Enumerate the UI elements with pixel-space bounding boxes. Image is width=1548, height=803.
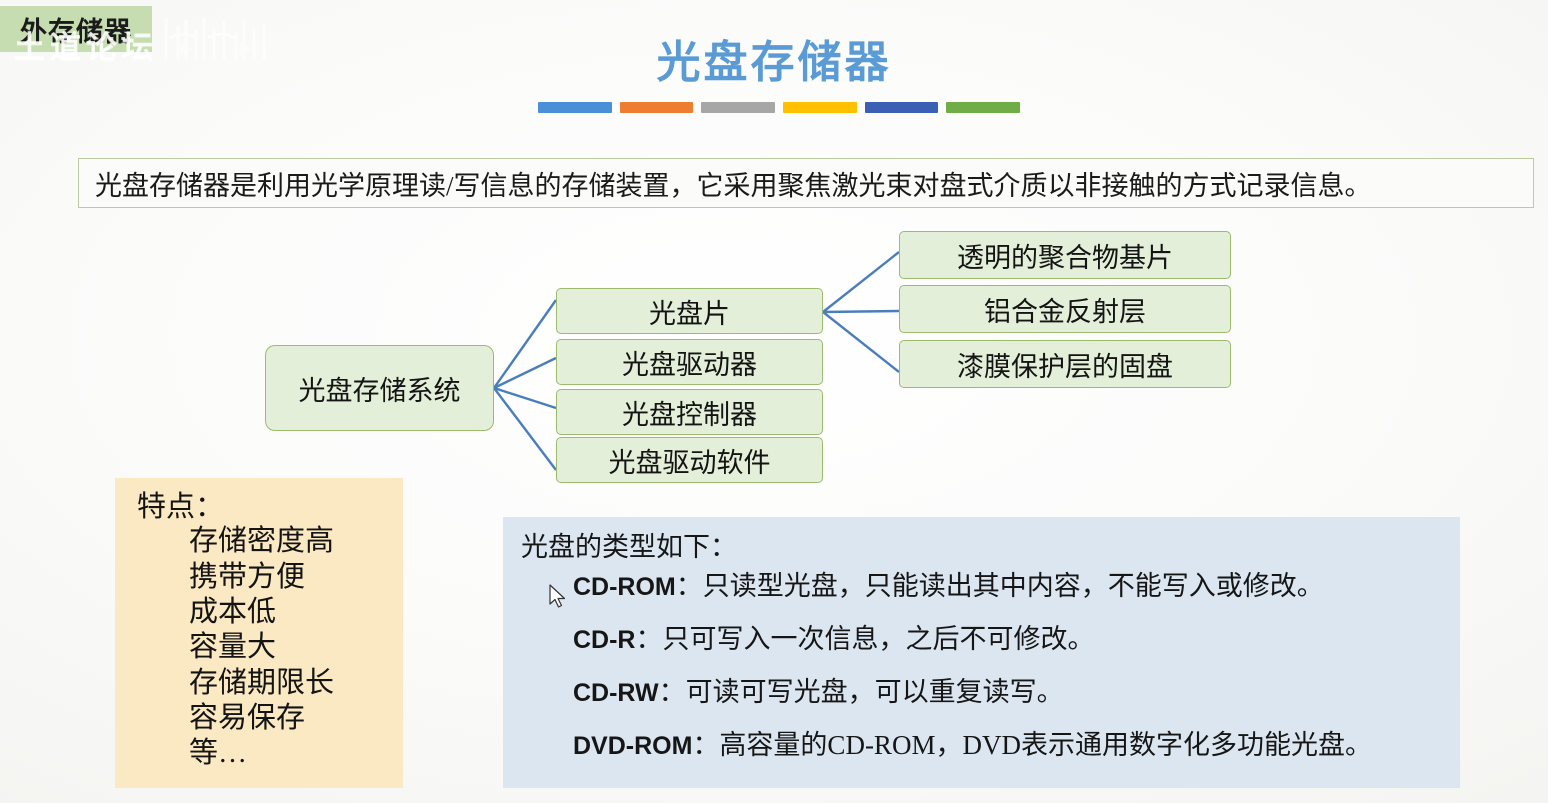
feature-item: 存储期限长 (189, 666, 403, 701)
disc-type-item: CD-R：只可写入一次信息，之后不可修改。 (573, 626, 1460, 653)
disc-type-item: DVD-ROM：高容量的CD-ROM，DVD表示通用数字化多功能光盘。 (573, 732, 1460, 759)
accent-bar-1 (538, 102, 612, 113)
feature-item: 容易保存 (189, 701, 403, 736)
definition-text: 光盘存储器是利用光学原理读/写信息的存储装置，它采用聚焦激光束对盘式介质以非接触… (95, 164, 1372, 203)
feature-item: 存储密度高 (189, 524, 403, 559)
accent-bar-2 (620, 102, 694, 113)
diagram-node-branch-4: 光盘驱动软件 (556, 437, 823, 483)
disc-type-desc: ：可读可写光盘，可以重复读写。 (659, 677, 1064, 707)
connector-branch1-to-leaf-3 (823, 312, 899, 372)
title-accent-bars (538, 102, 1020, 113)
disc-type-item: CD-RW：可读可写光盘，可以重复读写。 (573, 679, 1460, 706)
diagram-node-branch-1: 光盘片 (556, 288, 823, 334)
features-title: 特点： (137, 490, 403, 524)
diagram-node-root: 光盘存储系统 (265, 345, 494, 431)
accent-bar-5 (865, 102, 939, 113)
feature-item: 容量大 (189, 630, 403, 665)
disc-types-panel: 光盘的类型如下： CD-ROM：只读型光盘，只能读出其中内容，不能写入或修改。 … (503, 517, 1460, 788)
page-title: 光盘存储器 (0, 26, 1548, 90)
disc-type-code: CD-RW (573, 679, 659, 707)
connector-root-to-branch-4 (494, 388, 556, 470)
connector-root-to-branch-2 (494, 358, 556, 388)
disc-type-code: CD-ROM (573, 573, 676, 601)
accent-bar-4 (783, 102, 857, 113)
connector-branch1-to-leaf-2 (823, 311, 899, 312)
diagram-node-branch-2: 光盘驱动器 (556, 339, 823, 385)
disc-type-item: CD-ROM：只读型光盘，只能读出其中内容，不能写入或修改。 (573, 573, 1460, 600)
disc-types-title: 光盘的类型如下： (521, 531, 1460, 563)
accent-bar-3 (701, 102, 775, 113)
diagram-node-leaf-3: 漆膜保护层的固盘 (899, 340, 1231, 388)
slide-canvas: 外存储器 土道论坛 光盘存储器 (0, 0, 1548, 803)
disc-types-list: CD-ROM：只读型光盘，只能读出其中内容，不能写入或修改。 CD-R：只可写入… (521, 573, 1460, 759)
definition-banner: 光盘存储器是利用光学原理读/写信息的存储装置，它采用聚焦激光束对盘式介质以非接触… (78, 158, 1534, 208)
connector-branch1-to-leaf-1 (823, 252, 899, 312)
feature-item: 成本低 (189, 595, 403, 630)
connector-root-to-branch-3 (494, 388, 556, 408)
disc-type-code: CD-R (573, 626, 636, 654)
disc-type-desc: ：只可写入一次信息，之后不可修改。 (636, 624, 1095, 654)
disc-type-code: DVD-ROM (573, 732, 692, 760)
connector-root-to-branch-1 (494, 300, 556, 388)
diagram-node-leaf-1: 透明的聚合物基片 (899, 231, 1231, 279)
disc-type-desc: ：只读型光盘，只能读出其中内容，不能写入或修改。 (676, 571, 1324, 601)
feature-item: 等… (189, 736, 403, 771)
features-panel: 特点： 存储密度高 携带方便 成本低 容量大 存储期限长 容易保存 等… (115, 478, 403, 788)
diagram-node-leaf-2: 铝合金反射层 (899, 285, 1231, 333)
feature-item: 携带方便 (189, 560, 403, 595)
disc-type-desc: ：高容量的CD-ROM，DVD表示通用数字化多功能光盘。 (692, 730, 1372, 760)
diagram-node-branch-3: 光盘控制器 (556, 389, 823, 435)
features-list: 存储密度高 携带方便 成本低 容量大 存储期限长 容易保存 等… (137, 524, 403, 772)
accent-bar-6 (946, 102, 1020, 113)
